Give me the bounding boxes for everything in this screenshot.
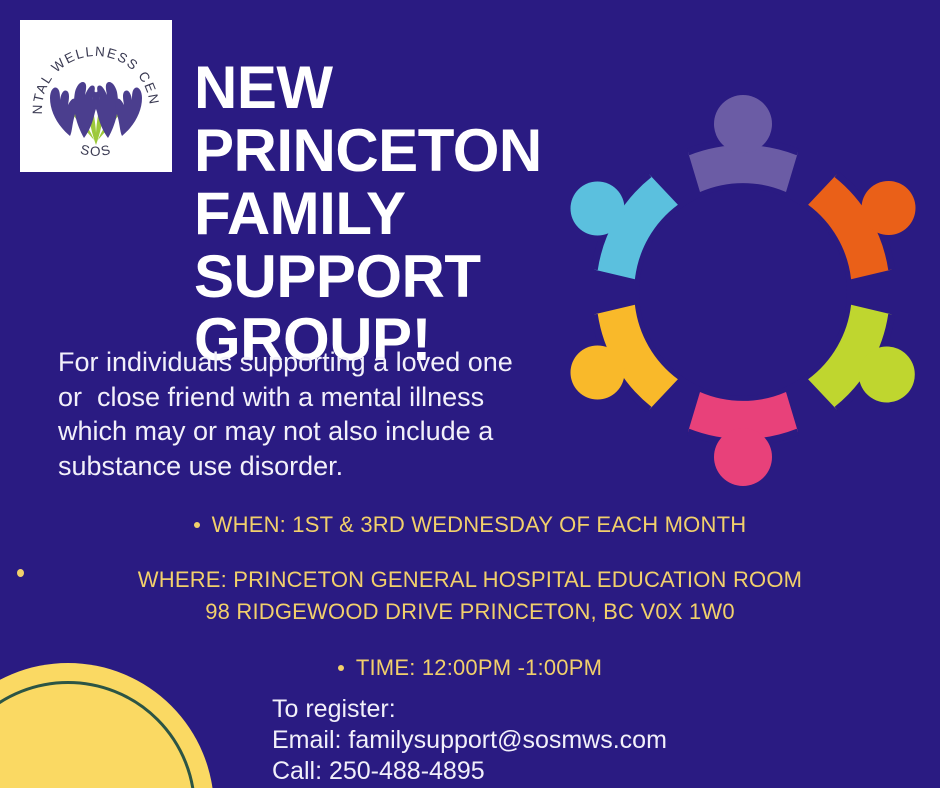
description-line-4: substance use disorder. <box>58 449 568 484</box>
detail-row-when: WHEN: 1ST & 3RD WEDNESDAY OF EACH MONTH <box>0 512 940 538</box>
person-head-bottom <box>714 428 772 486</box>
detail-row-time: TIME: 12:00PM -1:00PM <box>0 655 940 681</box>
register-phone: Call: 250-488-4895 <box>272 756 667 787</box>
detail-where-line2-text: 98 RIDGEWOOD DRIVE PRINCETON, BC V0X 1W0 <box>205 599 735 624</box>
decorative-yellow-circle-ring <box>0 681 196 788</box>
registration-contact-block: To register: Email: familysupport@sosmws… <box>272 694 667 787</box>
person-head-top <box>714 95 772 153</box>
headline-line-3: FAMILY <box>194 182 594 245</box>
sos-mental-wellness-centre-logo: MENTAL WELLNESS CENTRE SOS <box>20 20 172 172</box>
detail-row-where-line1: WHERE: PRINCETON GENERAL HOSPITAL EDUCAT… <box>0 567 940 593</box>
detail-when-text: WHEN: 1ST & 3RD WEDNESDAY OF EACH MONTH <box>212 512 747 537</box>
headline-line-4: SUPPORT <box>194 245 594 308</box>
register-heading: To register: <box>272 694 667 725</box>
bullet-marker-time <box>338 665 344 671</box>
poster-description: For individuals supporting a loved one o… <box>58 345 568 483</box>
event-details-list: WHEN: 1ST & 3RD WEDNESDAY OF EACH MONTH … <box>0 512 940 681</box>
people-circle-icon <box>558 82 928 494</box>
detail-row-where-line2: 98 RIDGEWOOD DRIVE PRINCETON, BC V0X 1W0 <box>0 599 940 625</box>
description-line-3: which may or may not also include a <box>58 414 568 449</box>
bullet-marker-when <box>194 522 200 528</box>
poster-canvas: MENTAL WELLNESS CENTRE SOS NEW PRINCETON… <box>0 0 940 788</box>
detail-where-line1-text: WHERE: PRINCETON GENERAL HOSPITAL EDUCAT… <box>138 567 802 592</box>
headline-line-2: PRINCETON <box>194 119 594 182</box>
bullet-marker-orphan <box>17 569 24 577</box>
register-email: Email: familysupport@sosmws.com <box>272 725 667 756</box>
poster-headline: NEW PRINCETON FAMILY SUPPORT GROUP! <box>194 56 594 371</box>
person-head-lower-right <box>859 347 915 403</box>
person-head-upper-right <box>862 181 916 235</box>
description-line-2: or close friend with a mental illness <box>58 380 568 415</box>
headline-line-1: NEW <box>194 56 594 119</box>
svg-text:SOS: SOS <box>79 142 113 159</box>
description-line-1: For individuals supporting a loved one <box>58 345 568 380</box>
detail-time-text: TIME: 12:00PM -1:00PM <box>356 655 602 680</box>
